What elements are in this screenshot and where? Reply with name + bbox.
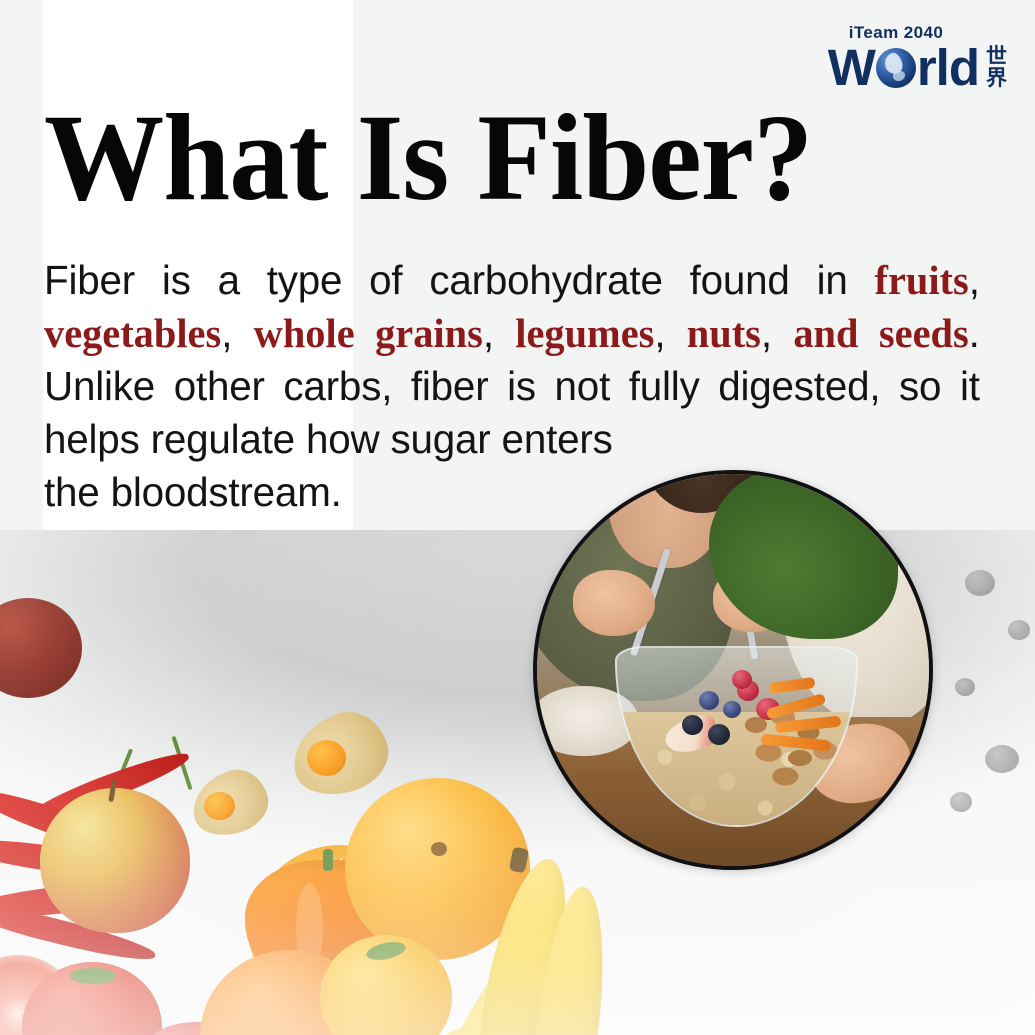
- body-highlight-fruits: fruits: [874, 257, 968, 303]
- globe-icon: [876, 48, 916, 88]
- blackberry: [950, 792, 972, 812]
- dark-tomato: [0, 598, 82, 698]
- body-segment-8: ,: [654, 310, 686, 356]
- logo-word-world: W rld: [828, 44, 979, 92]
- blackberry: [955, 678, 975, 696]
- logo-wordmark: W rld 世 界: [821, 44, 1007, 92]
- blackberry: [985, 745, 1019, 773]
- body-highlight-whole-grains: whole grains: [254, 310, 483, 356]
- body-segment-0: Fiber is a type of carbohydrate found in: [44, 257, 874, 303]
- blueberry: [723, 701, 741, 718]
- yellow-red-apple: [40, 788, 190, 933]
- body-segment-10: ,: [761, 310, 793, 356]
- logo-word-part-1: W: [828, 44, 875, 92]
- body-segment-6: ,: [483, 310, 515, 356]
- infographic-poster: iTeam 2040 W rld 世 界 What Is Fiber? Fibe…: [0, 0, 1035, 1035]
- page-title: What Is Fiber?: [44, 96, 975, 220]
- logo-word-part-2: rld: [917, 44, 979, 92]
- blueberry: [699, 691, 719, 710]
- blackberry: [965, 570, 995, 596]
- body-segment-2: ,: [969, 257, 980, 303]
- hand-left: [573, 570, 655, 636]
- physalis-berry: [204, 792, 234, 821]
- body-highlight-nuts: nuts: [687, 310, 761, 356]
- logo-cjk-bottom: 界: [986, 68, 1007, 90]
- banana-stem: [509, 847, 529, 874]
- body-highlight-and-seeds: and seeds: [793, 310, 968, 356]
- body-segment-4: ,: [221, 310, 253, 356]
- physalis: [192, 772, 268, 834]
- blackberry: [1008, 620, 1030, 640]
- body-highlight-legumes: legumes: [515, 310, 654, 356]
- raspberry-on-fork: [732, 670, 752, 689]
- physalis: [292, 715, 388, 793]
- brand-logo[interactable]: iTeam 2040 W rld 世 界: [821, 24, 1007, 100]
- body-highlight-vegetables: vegetables: [44, 310, 221, 356]
- bananas: [455, 848, 785, 1035]
- logo-cjk-top: 世: [986, 46, 1007, 68]
- logo-cjk-characters: 世 界: [986, 46, 1007, 90]
- people-eating-healthy-bowl-photo: [533, 470, 933, 870]
- physalis-berry: [307, 740, 345, 776]
